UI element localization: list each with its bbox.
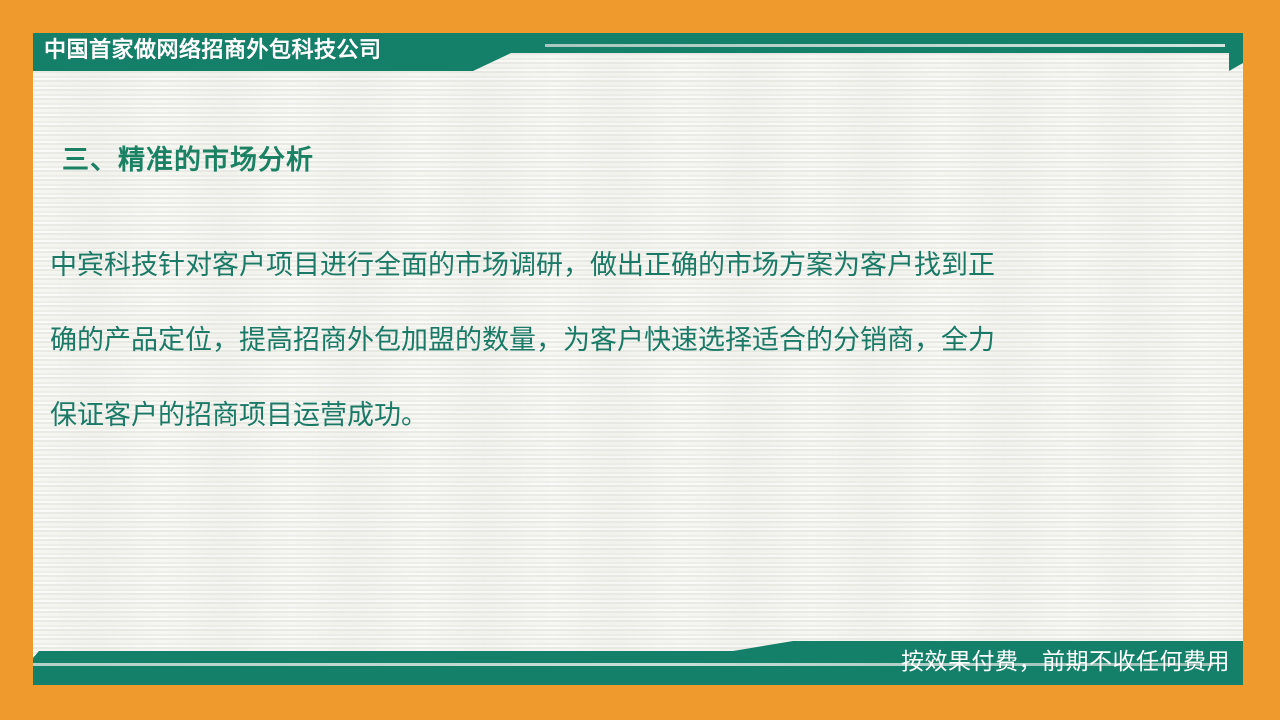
body-paragraph: 中宾科技针对客户项目进行全面的市场调研，做出正确的市场方案为客户找到正 确的产品… xyxy=(50,228,1182,453)
header-title: 中国首家做网络招商外包科技公司 xyxy=(44,34,564,68)
section-heading: 三、精准的市场分析 xyxy=(62,138,314,177)
paragraph-line-2: 确的产品定位，提高招商外包加盟的数量，为客户快速选择适合的分销商，全力 xyxy=(50,303,1182,378)
paragraph-line-1: 中宾科技针对客户项目进行全面的市场调研，做出正确的市场方案为客户找到正 xyxy=(50,228,1182,303)
presentation-slide: 中国首家做网络招商外包科技公司 三、精准的市场分析 中宾科技针对客户项目进行全面… xyxy=(0,0,1280,720)
paragraph-line-3: 保证客户的招商项目运营成功。 xyxy=(50,378,1182,453)
header-accent-line xyxy=(545,44,1225,47)
footer-tagline: 按效果付费，前期不收任何费用 xyxy=(901,647,1230,677)
